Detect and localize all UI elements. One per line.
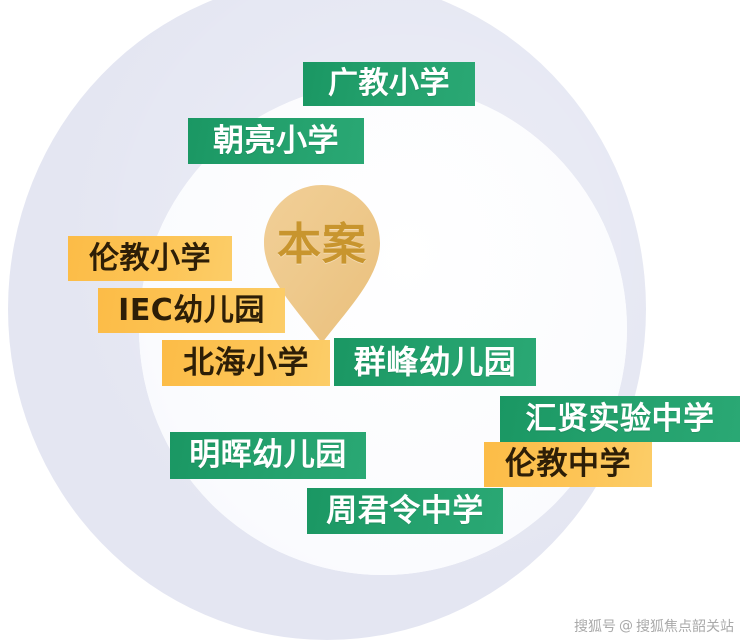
- school-chip-label: 北海小学: [183, 348, 309, 379]
- center-marker-label: 本案: [264, 223, 380, 267]
- school-chip-label: IEC幼儿园: [118, 296, 265, 326]
- school-chip-label: 群峰幼儿园: [354, 346, 517, 378]
- watermark-at-icon: @: [619, 618, 633, 634]
- infographic-canvas: 本案 广教小学朝亮小学伦教小学IEC幼儿园北海小学群峰幼儿园汇贤实验中学伦教中学…: [0, 0, 740, 644]
- school-chip-chaoliang-primary[interactable]: 朝亮小学: [188, 118, 364, 164]
- school-chip-minghui-kinder[interactable]: 明晖幼儿园: [170, 432, 366, 479]
- school-chip-label: 伦教中学: [505, 449, 631, 480]
- school-chip-qunfeng-kinder[interactable]: 群峰幼儿园: [334, 338, 536, 386]
- school-chip-label: 汇贤实验中学: [526, 404, 715, 435]
- school-chip-beihai-primary[interactable]: 北海小学: [162, 340, 330, 386]
- watermark-account: 搜狐焦点韶关站: [636, 616, 734, 636]
- school-chip-label: 广教小学: [328, 69, 450, 99]
- school-chip-huixian-middle[interactable]: 汇贤实验中学: [500, 396, 740, 442]
- watermark-prefix: 搜狐号: [574, 616, 616, 636]
- school-chip-lunjiao-middle[interactable]: 伦教中学: [484, 442, 652, 487]
- watermark: 搜狐号 @ 搜狐焦点韶关站: [574, 616, 734, 636]
- school-chip-label: 周君令中学: [326, 496, 484, 527]
- school-chip-label: 朝亮小学: [213, 126, 339, 157]
- school-chip-iec-kindergarten[interactable]: IEC幼儿园: [98, 288, 285, 333]
- school-chip-lunjiao-primary[interactable]: 伦教小学: [68, 236, 232, 281]
- school-chip-guangjiao-primary[interactable]: 广教小学: [303, 62, 475, 106]
- school-chip-zhoujunling-middle[interactable]: 周君令中学: [307, 488, 503, 534]
- school-chip-label: 伦教小学: [89, 244, 211, 274]
- school-chip-label: 明晖幼儿园: [189, 440, 347, 471]
